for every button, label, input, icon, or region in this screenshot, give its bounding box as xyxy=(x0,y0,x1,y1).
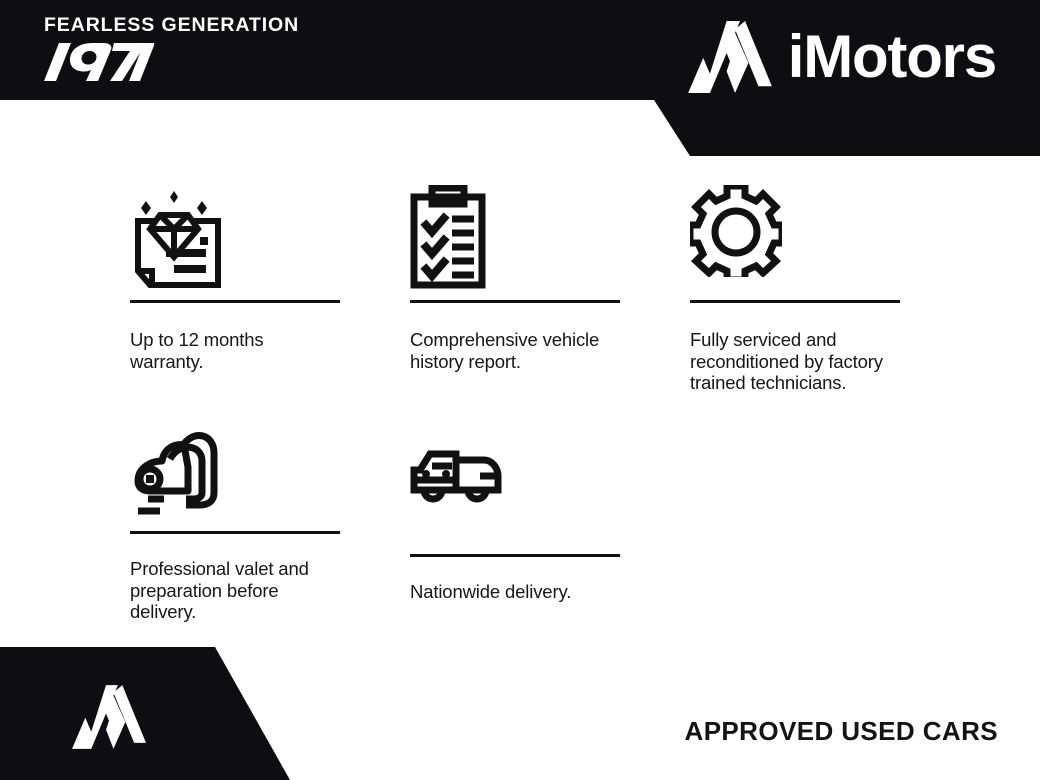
header: FEARLESS GENERATION xyxy=(0,0,1040,156)
clipboard-checklist-icon xyxy=(410,185,486,289)
feature-icon-container xyxy=(130,418,340,531)
feature-card-servicing: Fully serviced and reconditioned by fact… xyxy=(690,180,900,394)
poster-canvas: FEARLESS GENERATION xyxy=(0,0,1040,780)
feature-divider xyxy=(410,554,620,557)
feature-label: Professional valet and preparation befor… xyxy=(130,558,340,623)
feature-divider xyxy=(690,300,900,303)
feature-icon-container xyxy=(130,180,340,300)
brand-lockup: iMotors xyxy=(688,21,996,93)
feature-divider xyxy=(130,531,340,534)
feature-card-valet: Professional valet and preparation befor… xyxy=(130,418,340,623)
footer-imotors-chevron-logo-icon xyxy=(72,680,146,754)
feature-divider xyxy=(410,300,620,303)
imotors-chevron-logo-icon xyxy=(688,21,772,93)
feature-label: Comprehensive vehicle history report. xyxy=(410,329,620,372)
feature-grid-spacer xyxy=(690,418,900,623)
feature-row-1: Up to 12 months warranty. xyxy=(130,180,920,394)
feature-card-delivery: Nationwide delivery. xyxy=(410,418,620,623)
brand-name: iMotors xyxy=(788,27,996,87)
vacuum-cleaner-icon xyxy=(130,423,222,515)
feature-card-history-report: Comprehensive vehicle history report. xyxy=(410,180,620,394)
feature-icon-container xyxy=(410,180,620,300)
feature-icon-container xyxy=(410,418,620,554)
year-1971-logo xyxy=(44,39,154,85)
feature-grid: Up to 12 months warranty. xyxy=(130,180,920,623)
feature-divider xyxy=(130,300,340,303)
footer-tagline: APPROVED USED CARS xyxy=(685,716,998,747)
feature-row-2: Professional valet and preparation befor… xyxy=(130,418,920,623)
feature-label: Up to 12 months warranty. xyxy=(130,329,340,372)
campaign-lockup: FEARLESS GENERATION xyxy=(44,16,299,90)
feature-label: Nationwide delivery. xyxy=(410,581,620,603)
campaign-title: FEARLESS GENERATION xyxy=(44,16,299,36)
feature-icon-container xyxy=(690,180,900,300)
feature-label: Fully serviced and reconditioned by fact… xyxy=(690,329,900,394)
gear-cog-icon xyxy=(690,185,782,277)
feature-card-warranty: Up to 12 months warranty. xyxy=(130,180,340,394)
warranty-certificate-diamond-icon xyxy=(130,185,226,293)
car-transporter-truck-icon xyxy=(410,446,502,510)
